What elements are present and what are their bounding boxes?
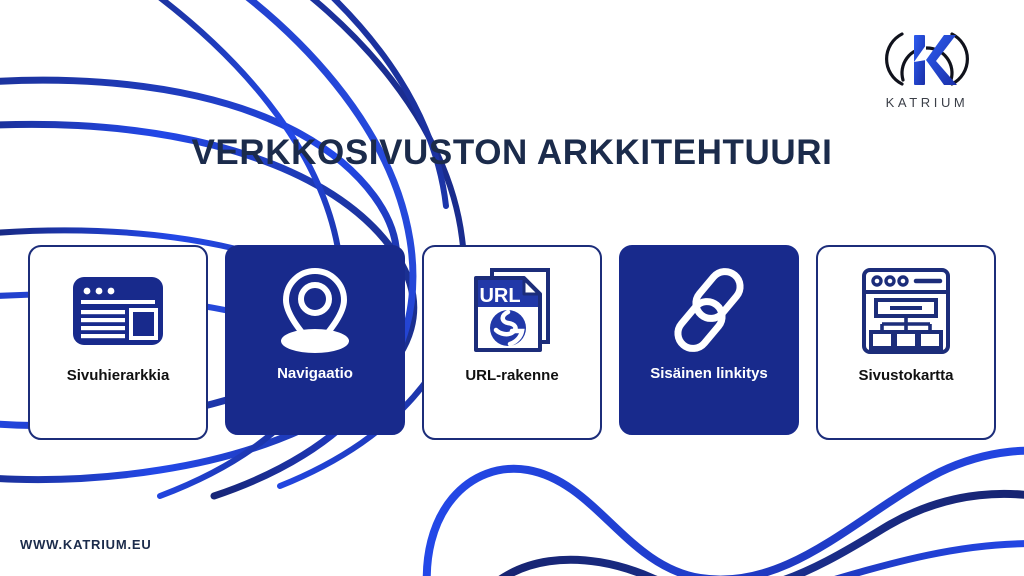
chain-link-icon	[663, 263, 755, 355]
card-sivustokartta[interactable]: Sivustokartta	[816, 245, 996, 440]
sitemap-browser-icon	[860, 265, 952, 357]
url-document-globe-icon: URL	[466, 265, 558, 357]
card-label: Sivuhierarkkia	[61, 367, 176, 385]
infographic-slide: KATRIUM VERKKOSIVUSTON ARKKITEHTUURI	[0, 0, 1024, 576]
browser-wireframe-icon	[71, 265, 165, 357]
location-pin-icon	[272, 263, 358, 355]
card-label: Sisäinen linkitys	[644, 365, 774, 383]
page-title: VERKKOSIVUSTON ARKKITEHTUURI	[0, 133, 1024, 173]
card-navigaatio[interactable]: Navigaatio	[225, 245, 405, 435]
card-url-rakenne[interactable]: URL URL-rakenne	[422, 245, 602, 440]
card-label: URL-rakenne	[459, 367, 564, 385]
card-sivuhierarkkia[interactable]: Sivuhierarkkia	[28, 245, 208, 440]
card-label: Navigaatio	[271, 365, 359, 383]
card-label: Sivustokartta	[852, 367, 959, 385]
url-icon-text: URL	[479, 285, 520, 307]
logo-wordmark: KATRIUM	[886, 95, 969, 110]
footer-website-url: WWW.KATRIUM.EU	[20, 537, 152, 552]
card-sisainen-linkitys[interactable]: Sisäinen linkitys	[619, 245, 799, 435]
feature-card-row: Sivuhierarkkia Navigaatio	[28, 245, 996, 445]
katrium-logo: KATRIUM	[864, 22, 990, 114]
